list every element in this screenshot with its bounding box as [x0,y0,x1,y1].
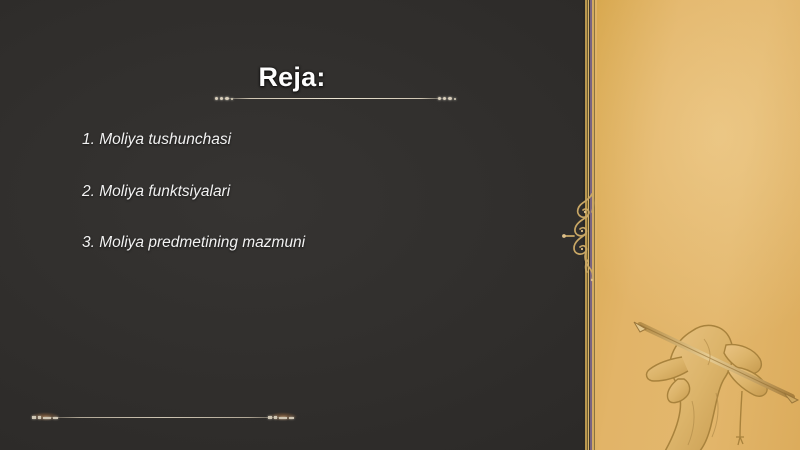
title-divider-right-ornament-icon [436,96,458,101]
list-item: 2. Moliya funktsiyalari [82,184,542,200]
bottom-divider [30,415,298,421]
title-divider-left-ornament-icon [213,96,235,101]
title-divider-line [223,98,448,99]
list-item: 1. Moliya tushunchasi [82,132,542,148]
bottom-divider-line [44,417,284,418]
agenda-list: 1. Moliya tushunchasi 2. Moliya funktsiy… [82,132,542,287]
presentation-slide: Reja: 1. Moliya tushunchasi 2. Moliya fu… [0,0,800,450]
bottom-divider-right-ornament-icon [268,415,296,421]
bottom-divider-left-ornament-icon [32,415,60,421]
hand-holding-pen-icon [620,305,800,450]
scroll-filigree-icon [558,190,602,282]
page-title: Reja: [0,62,584,93]
list-item: 3. Moliya predmetining mazmuni [82,235,542,251]
title-divider [213,96,458,101]
